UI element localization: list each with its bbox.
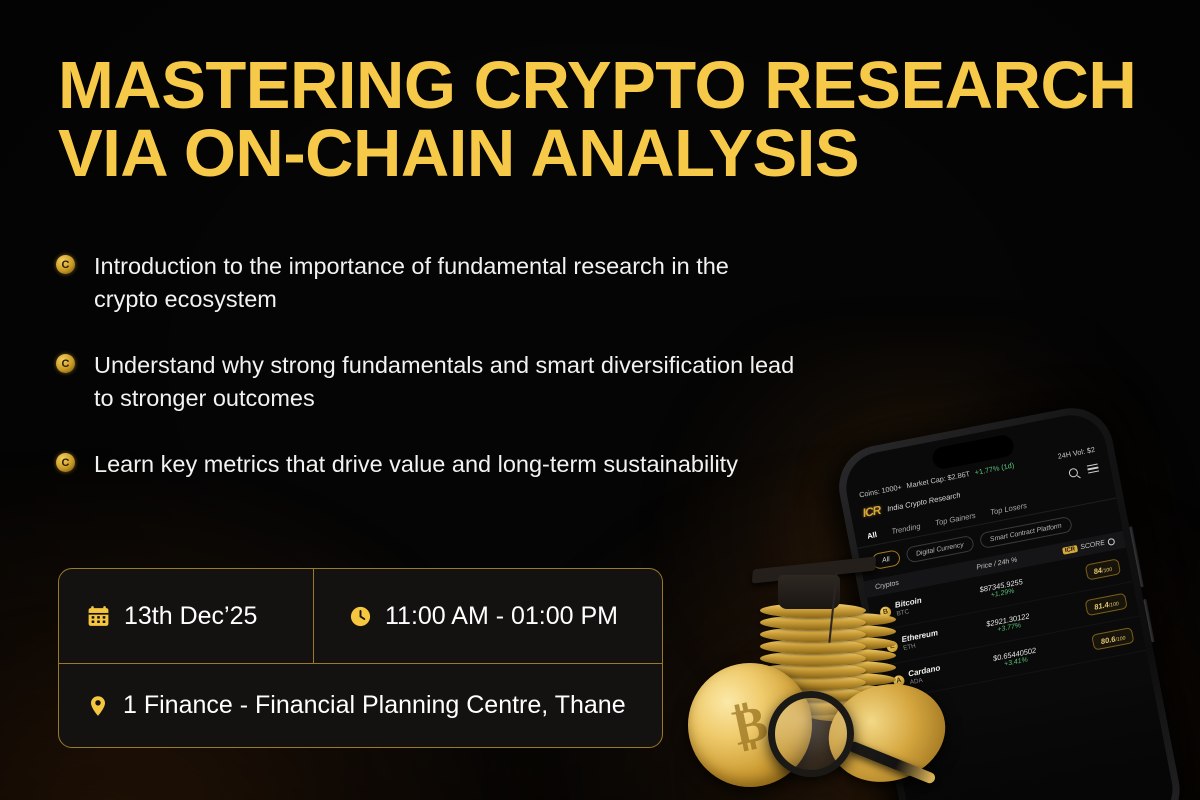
event-location-cell: 1 Finance - Financial Planning Centre, T… [59, 663, 662, 747]
score-suffix: /100 [1108, 601, 1119, 609]
location-pin-icon [86, 694, 110, 718]
bullet-list: Introduction to the importance of fundam… [56, 250, 796, 481]
crypto-score-cell: 80.6/100 [1065, 627, 1135, 656]
calendar-icon [86, 604, 111, 629]
magnifying-glass-icon [768, 691, 854, 777]
info-icon[interactable] [1107, 538, 1115, 546]
list-item: Understand why strong fundamentals and s… [56, 349, 796, 415]
bullet-text: Learn key metrics that drive value and l… [94, 448, 738, 481]
list-item: Introduction to the importance of fundam… [56, 250, 796, 316]
phone-volume-button [1143, 599, 1154, 643]
tab-top-gainers[interactable]: Top Gainers [934, 511, 976, 528]
score-pill: 84/100 [1084, 558, 1121, 580]
app-name: India Crypto Research [886, 490, 961, 513]
info-card-top-row: 13th Dec’25 11:00 AM - 01:00 PM [59, 569, 662, 663]
crypto-score-cell: 81.4/100 [1058, 593, 1128, 622]
title-line-1: MASTERING CRYPTO RESEARCH [58, 52, 1128, 120]
event-time-cell: 11:00 AM - 01:00 PM [314, 569, 662, 663]
icr-logo: ICR [861, 503, 881, 520]
event-date-text: 13th Dec’25 [124, 602, 257, 631]
title-line-2: VIA ON-CHAIN ANALYSIS [58, 120, 1128, 188]
event-location-text: 1 Finance - Financial Planning Centre, T… [123, 691, 626, 720]
search-icon[interactable] [1068, 467, 1079, 478]
score-label: SCORE [1080, 540, 1106, 552]
hamburger-menu-icon[interactable] [1087, 464, 1099, 474]
header-actions [1068, 463, 1099, 478]
crypto-coins-illustration: ₿ [680, 555, 970, 800]
score-value: 80.6 [1100, 634, 1116, 646]
graduation-cap-base [778, 575, 840, 609]
page-title: MASTERING CRYPTO RESEARCH VIA ON-CHAIN A… [58, 52, 1128, 188]
coin-icon [56, 453, 75, 472]
score-pill: 81.4/100 [1085, 593, 1128, 616]
crypto-score-cell: 84/100 [1051, 558, 1121, 587]
tab-top-losers[interactable]: Top Losers [989, 501, 1027, 517]
icr-score-badge: ICR [1062, 545, 1078, 555]
event-date-cell: 13th Dec’25 [59, 569, 314, 663]
score-suffix: /100 [1115, 635, 1126, 643]
score-pill: 80.6/100 [1091, 627, 1134, 650]
event-time-text: 11:00 AM - 01:00 PM [385, 602, 618, 631]
list-item: Learn key metrics that drive value and l… [56, 448, 796, 481]
coin-icon [56, 255, 75, 274]
score-suffix: /100 [1102, 566, 1113, 574]
clock-icon [349, 605, 372, 628]
event-info-card: 13th Dec’25 11:00 AM - 01:00 PM 1 Financ… [58, 568, 663, 748]
bullet-text: Understand why strong fundamentals and s… [94, 349, 796, 415]
coin-icon [56, 354, 75, 373]
bullet-text: Introduction to the importance of fundam… [94, 250, 796, 316]
tab-all[interactable]: All [866, 530, 877, 541]
score-value: 81.4 [1093, 600, 1109, 612]
tab-trending[interactable]: Trending [891, 522, 922, 536]
